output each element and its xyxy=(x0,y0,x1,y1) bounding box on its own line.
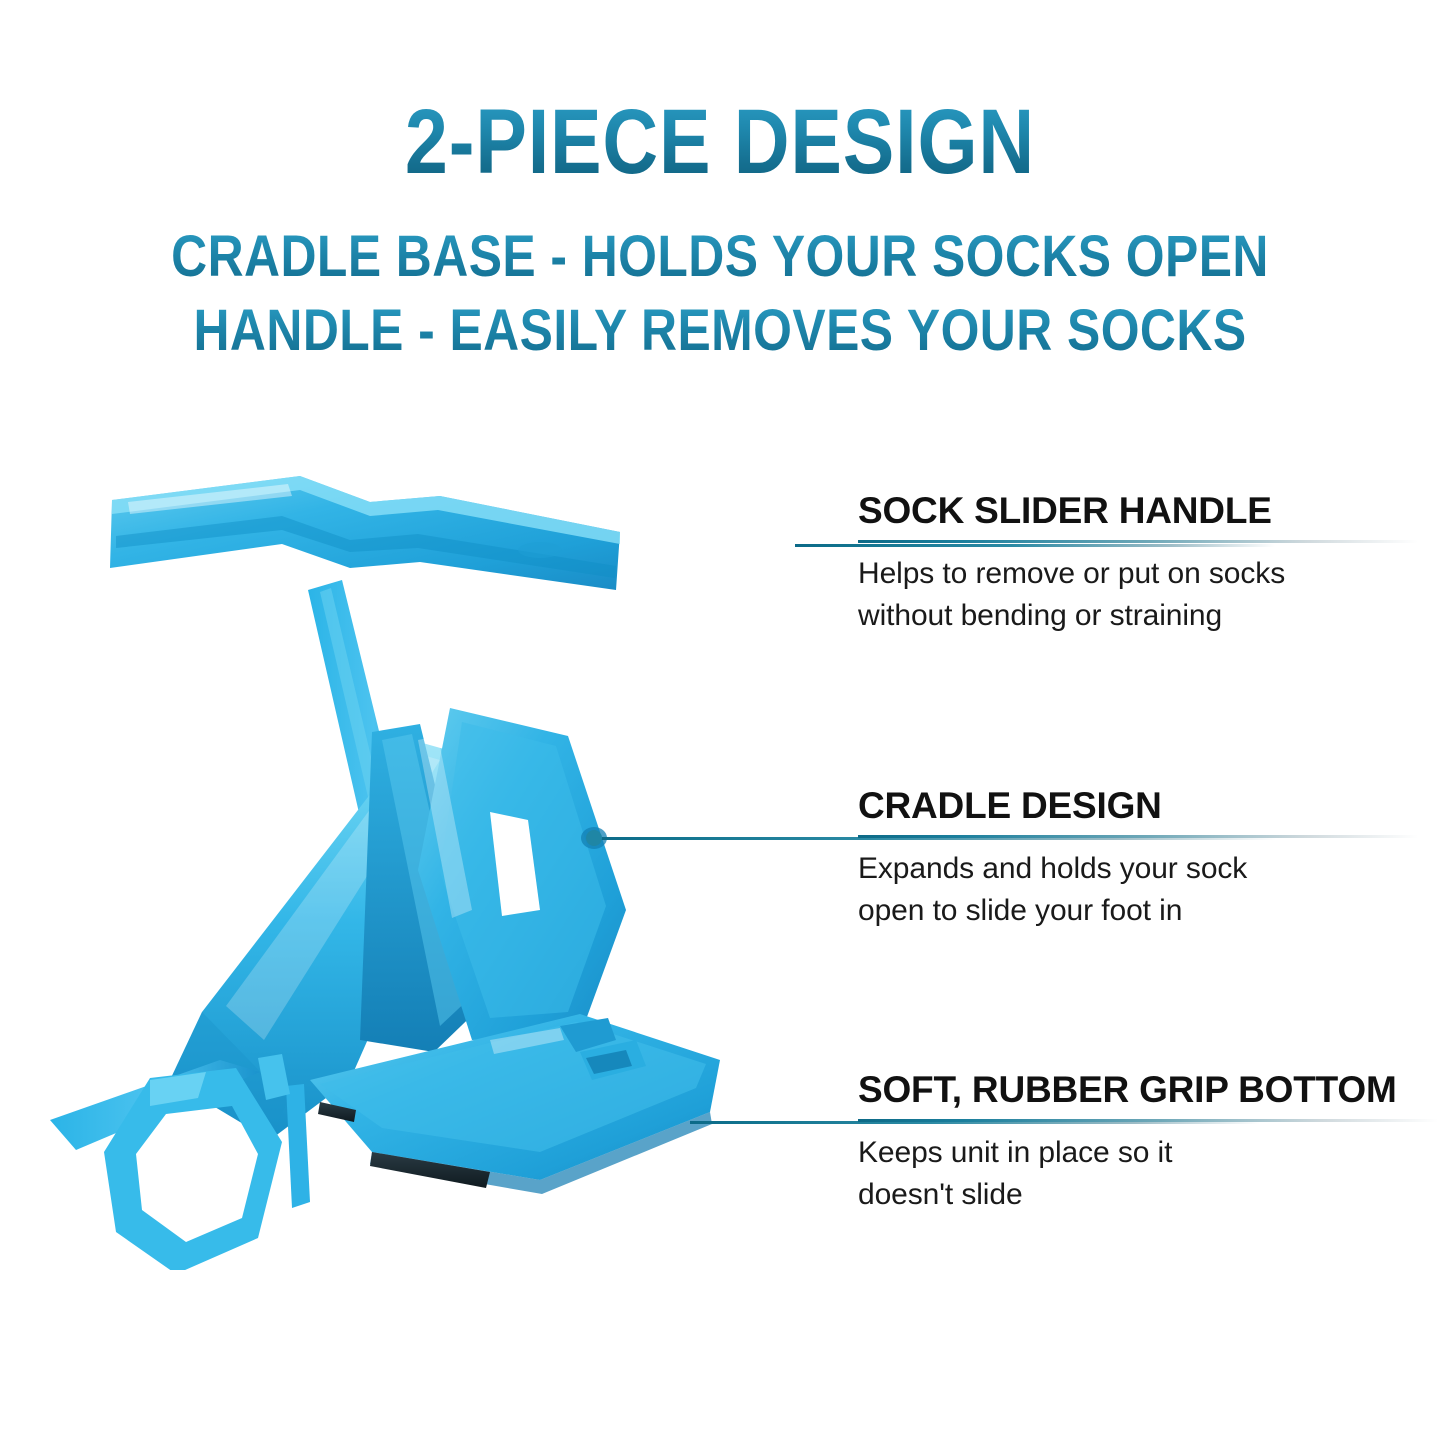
product-image xyxy=(20,440,820,1270)
subtitle-line-2: HANDLE - EASILY REMOVES YOUR SOCKS xyxy=(101,294,1339,368)
callout-rule-2 xyxy=(858,835,1418,838)
callout-desc-soft-rubber-grip-bottom: Keeps unit in place so it doesn't slide xyxy=(858,1132,1438,1217)
header: 2-PIECE DESIGN CRADLE BASE - HOLDS YOUR … xyxy=(0,0,1440,368)
subtitle-block: CRADLE BASE - HOLDS YOUR SOCKS OPEN HAND… xyxy=(0,220,1440,368)
callout-title-cradle-design: CRADLE DESIGN xyxy=(858,787,1418,826)
callout-desc-line: without bending or straining xyxy=(858,595,1418,638)
callout-cradle-design: CRADLE DESIGN Expands and holds your soc… xyxy=(858,787,1418,933)
handle-t-bar xyxy=(110,476,620,590)
callout-rule-3 xyxy=(858,1119,1438,1122)
callout-desc-line: open to slide your foot in xyxy=(858,890,1418,933)
callout-desc-line: Expands and holds your sock xyxy=(858,848,1418,891)
callout-desc-cradle-design: Expands and holds your sock open to slid… xyxy=(858,848,1418,933)
subtitle-line-1: CRADLE BASE - HOLDS YOUR SOCKS OPEN xyxy=(101,220,1339,294)
callout-rule-1 xyxy=(858,540,1418,543)
callout-desc-line: doesn't slide xyxy=(858,1174,1438,1217)
callout-desc-sock-slider-handle: Helps to remove or put on socks without … xyxy=(858,553,1418,638)
page-title: 2-PIECE DESIGN xyxy=(115,96,1325,190)
sock-slider-svg xyxy=(20,440,820,1270)
callout-desc-line: Helps to remove or put on socks xyxy=(858,553,1418,596)
strap-loop xyxy=(50,1054,310,1270)
callout-soft-rubber-grip-bottom: SOFT, RUBBER GRIP BOTTOM Keeps unit in p… xyxy=(858,1071,1438,1217)
callout-title-soft-rubber-grip-bottom: SOFT, RUBBER GRIP BOTTOM xyxy=(858,1071,1438,1110)
infographic-page: 2-PIECE DESIGN CRADLE BASE - HOLDS YOUR … xyxy=(0,0,1440,1440)
callout-sock-slider-handle: SOCK SLIDER HANDLE Helps to remove or pu… xyxy=(858,492,1418,638)
callout-title-sock-slider-handle: SOCK SLIDER HANDLE xyxy=(858,492,1418,531)
leader-anchor-dot-cradle xyxy=(586,830,602,846)
callout-desc-line: Keeps unit in place so it xyxy=(858,1132,1438,1175)
